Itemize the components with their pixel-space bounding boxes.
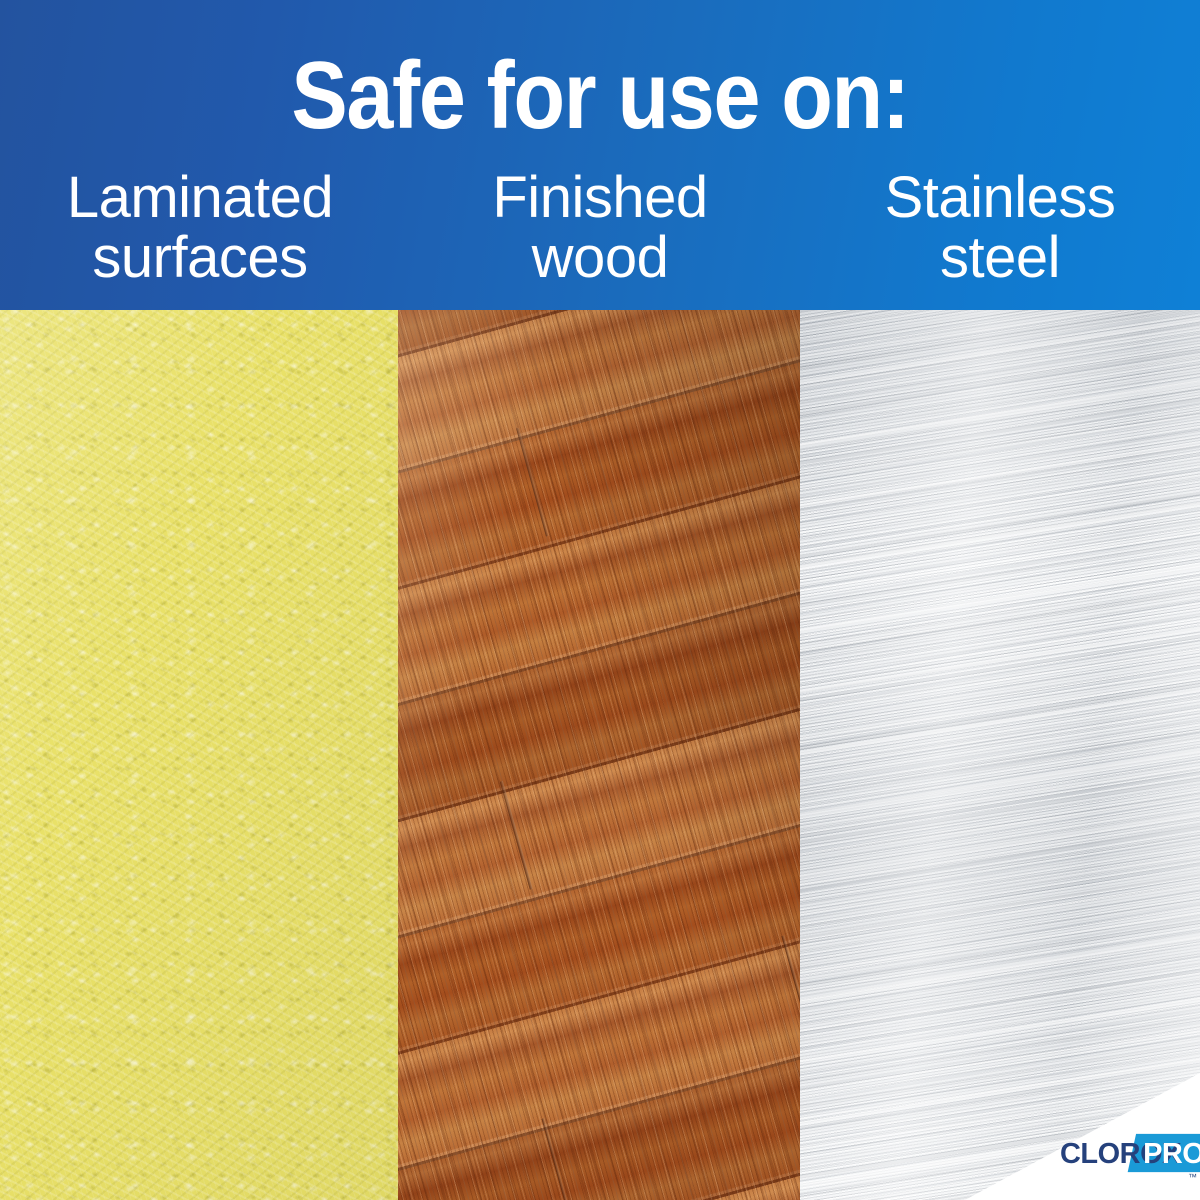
category-label-finished-wood: Finished wood [400, 168, 800, 298]
category-label-line2: surfaces [8, 228, 392, 288]
poster-canvas: Safe for use on: Laminated surfaces Fini… [0, 0, 1200, 1200]
surface-category-row: Laminated surfaces Finished wood Stainle… [0, 168, 1200, 298]
laminate-panel [0, 310, 398, 1200]
category-label-line2: wood [408, 228, 792, 288]
category-label-laminated-surfaces: Laminated surfaces [0, 168, 400, 298]
category-label-line1: Finished [408, 168, 792, 228]
category-label-line2: steel [808, 228, 1192, 288]
steel-panel [800, 310, 1200, 1200]
category-label-line1: Laminated [8, 168, 392, 228]
laminate-sheen-overlay [0, 310, 398, 1200]
header-banner: Safe for use on: Laminated surfaces Fini… [0, 0, 1200, 310]
surface-panel-row [0, 310, 1200, 1200]
wood-panel [398, 310, 800, 1200]
steel-highlight-overlay [800, 310, 1200, 1200]
category-label-stainless-steel: Stainless steel [800, 168, 1200, 298]
category-label-line1: Stainless [808, 168, 1192, 228]
page-title: Safe for use on: [72, 48, 1128, 144]
wood-gloss-overlay [398, 310, 800, 1200]
